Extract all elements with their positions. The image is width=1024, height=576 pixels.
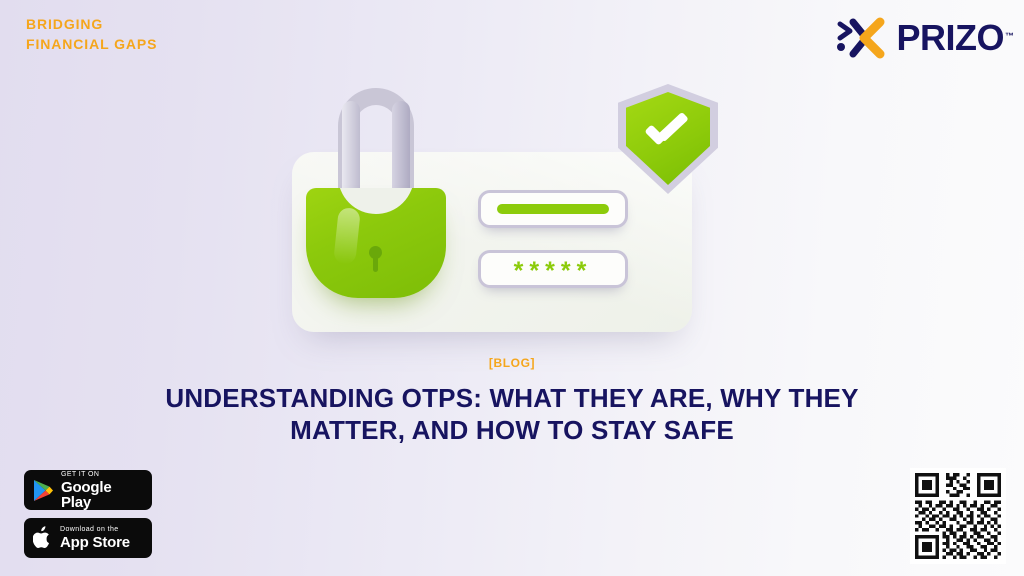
- google-play-badge[interactable]: GET IT ON Google Play: [24, 470, 152, 510]
- page-title: UNDERSTANDING OTPS: WHAT THEY ARE, WHY T…: [140, 382, 884, 446]
- store-badges: GET IT ON Google Play Download on the Ap…: [24, 470, 152, 558]
- app-store-badge[interactable]: Download on the App Store: [24, 518, 152, 558]
- hero-illustration: *****: [278, 72, 748, 347]
- x-mark-logo-icon: [836, 16, 892, 60]
- app-store-badge-small: Download on the: [60, 526, 130, 533]
- padlock-body: [306, 188, 446, 298]
- brand-name: PRIZO ™: [896, 18, 1004, 58]
- username-field[interactable]: [478, 190, 628, 228]
- password-field[interactable]: *****: [478, 250, 628, 288]
- tagline: BRIDGING FINANCIAL GAPS: [26, 14, 157, 54]
- username-field-fill: [497, 204, 609, 214]
- brand-logo[interactable]: PRIZO ™: [836, 16, 1004, 60]
- google-play-badge-label: Google Play: [61, 480, 143, 510]
- tagline-line-1: BRIDGING: [26, 14, 157, 34]
- qr-code-icon[interactable]: [910, 468, 1006, 564]
- shield-check-icon: [618, 84, 718, 194]
- password-field-value: *****: [514, 259, 593, 284]
- checkmark-icon: [645, 124, 689, 146]
- padlock-keyhole: [369, 246, 382, 259]
- brand-name-text: PRIZO: [896, 17, 1004, 58]
- qr-code-image: [915, 473, 1001, 559]
- app-store-badge-label: App Store: [60, 535, 130, 550]
- apple-logo-icon: [33, 526, 53, 550]
- google-play-badge-small: GET IT ON: [61, 471, 143, 478]
- trademark-symbol: ™: [1005, 16, 1014, 56]
- google-play-icon: [33, 479, 54, 502]
- category-label: [BLOG]: [0, 356, 1024, 370]
- tagline-line-2: FINANCIAL GAPS: [26, 34, 157, 54]
- padlock-icon: [306, 88, 446, 313]
